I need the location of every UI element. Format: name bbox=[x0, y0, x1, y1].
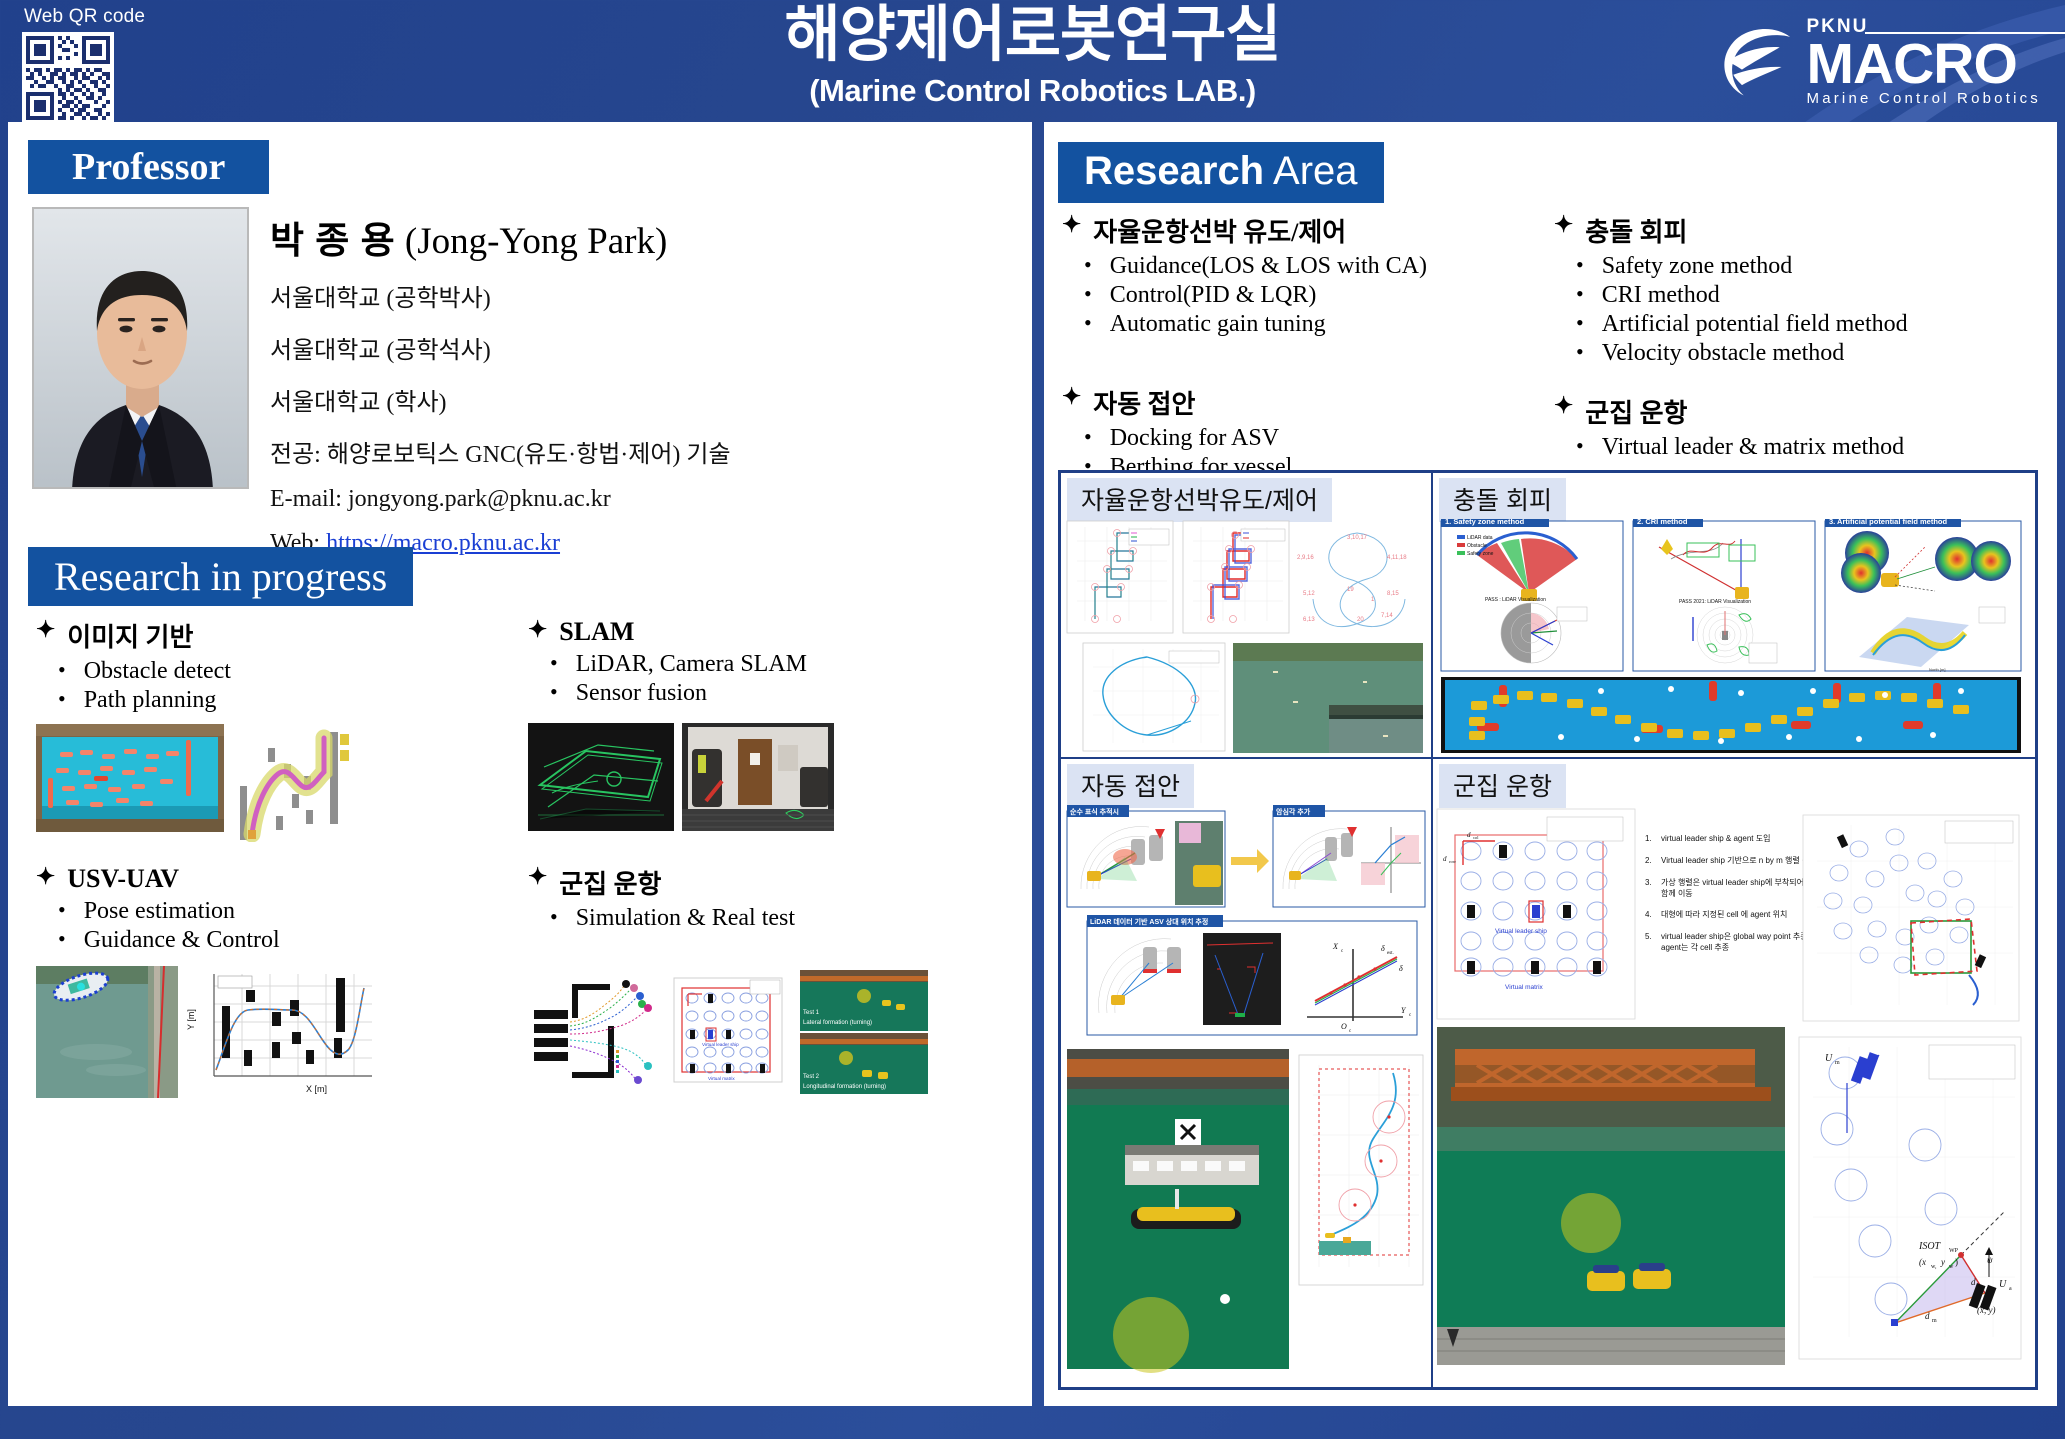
list-item: • LiDAR, Camera SLAM bbox=[528, 651, 1020, 678]
figure-indoor-rgbd-reconstruction bbox=[682, 723, 834, 831]
svg-text:20: 20 bbox=[1357, 617, 1364, 623]
svg-text:y: y bbox=[1940, 1257, 1945, 1267]
rip-group-title: ✦ 이미지 기반 bbox=[36, 617, 528, 654]
list-item: • Control(PID & LQR) bbox=[1062, 282, 1554, 309]
logo-macro-text: MACRO bbox=[1807, 38, 2042, 92]
ra-group-title: ✦ 군집 운항 bbox=[1554, 393, 2046, 430]
professor-name-english: (Jong-Yong Park) bbox=[405, 221, 667, 262]
svg-text:2,9,16: 2,9,16 bbox=[1297, 555, 1314, 561]
svg-text:m: m bbox=[1835, 1060, 1840, 1066]
svg-text:Test 1: Test 1 bbox=[803, 1010, 820, 1016]
svg-text:4,11,18: 4,11,18 bbox=[1387, 555, 1407, 561]
svg-text:Virtual leader ship 기반으로 n by: Virtual leader ship 기반으로 n by m 행렬 생성 bbox=[1661, 855, 1817, 865]
ra-cell-body: 순수 표식 추적시 bbox=[1061, 805, 1431, 1387]
rip-figures: X [m] Y [m] bbox=[36, 966, 528, 1098]
svg-text:Longitudinal formation (turnin: Longitudinal formation (turning) bbox=[803, 1084, 886, 1090]
svg-text:Virtual matrix: Virtual matrix bbox=[1505, 984, 1544, 991]
rip-group-image-based: ✦ 이미지 기반 • Obstacle detect • Path planni… bbox=[36, 617, 528, 842]
diamond-bullet-icon: ✦ bbox=[528, 617, 547, 642]
rip-group-slam: ✦ SLAM • LiDAR, Camera SLAM • Sensor fus… bbox=[528, 617, 1020, 842]
research-area-bullets: ✦ 자율운항선박 유도/제어 • Guidance(LOS & LOS with… bbox=[1062, 212, 2047, 507]
professor-degree-ms: 서울대학교 (공학석사) bbox=[270, 330, 1010, 365]
research-area-banner-light: Area bbox=[1264, 149, 1357, 193]
dot-bullet-icon: • bbox=[58, 658, 66, 685]
list-item: • Guidance(LOS & LOS with CA) bbox=[1062, 253, 1554, 280]
dot-bullet-icon: • bbox=[58, 898, 66, 925]
svg-text:U: U bbox=[1999, 1279, 2007, 1290]
ra-group-guidance-control: ✦ 자율운항선박 유도/제어 • Guidance(LOS & LOS with… bbox=[1062, 212, 1554, 338]
svg-text:2. CRI method: 2. CRI method bbox=[1637, 519, 1688, 526]
dot-bullet-icon: • bbox=[550, 905, 558, 932]
diamond-bullet-icon: ✦ bbox=[528, 864, 547, 889]
ra-group-title: ✦ 충돌 회피 bbox=[1554, 212, 2046, 249]
svg-text:col: col bbox=[1473, 835, 1479, 840]
professor-info: 박 종 용 (Jong-Yong Park) 서울대학교 (공학박사) 서울대학… bbox=[270, 210, 1010, 574]
professor-email: E-mail: jongyong.park@pknu.ac.kr bbox=[270, 486, 1010, 513]
svg-text:m: m bbox=[1932, 1318, 1937, 1324]
ra-cell-body: d col d row Virtual leader ship Virtual … bbox=[1433, 805, 2035, 1387]
svg-text:1.: 1. bbox=[1645, 834, 1652, 843]
list-item: • CRI method bbox=[1554, 282, 2046, 309]
figure-path-planning-map bbox=[232, 724, 360, 842]
svg-text:7,14: 7,14 bbox=[1381, 613, 1393, 619]
logo-tagline: Marine Control Robotics bbox=[1807, 90, 2042, 107]
professor-specialty: 전공: 해양로보틱스 GNC(유도·항법·제어) 기술 bbox=[270, 434, 1010, 469]
professor-banner: Professor bbox=[28, 140, 269, 194]
rip-group-title: ✦ SLAM bbox=[528, 617, 1020, 647]
ra-cell-collision-avoidance: 충돌 회피 1. Safety zone method bbox=[1432, 472, 2036, 758]
research-area-column-right: ✦ 충돌 회피 • Safety zone method • CRI metho… bbox=[1554, 212, 2046, 507]
rip-title-text: 군집 운항 bbox=[559, 864, 661, 901]
dot-bullet-icon: • bbox=[550, 651, 558, 678]
diamond-bullet-icon: ✦ bbox=[1062, 212, 1081, 237]
svg-text:ISOT: ISOT bbox=[1918, 1241, 1942, 1252]
rip-figures bbox=[36, 724, 528, 842]
svg-text:virtual leader ship & agent 도입: virtual leader ship & agent 도입 bbox=[1661, 834, 1770, 843]
ship-wave-logo-icon bbox=[1711, 18, 1797, 104]
ra-group-collision-avoidance: ✦ 충돌 회피 • Safety zone method • CRI metho… bbox=[1554, 212, 2046, 367]
svg-text:row: row bbox=[1449, 859, 1457, 864]
research-in-progress-banner: Research in progress bbox=[28, 547, 413, 606]
rip-group-swarm: ✦ 군집 운항 • Simulation & Real test bbox=[528, 864, 1020, 1098]
svg-text:LiDAR data: LiDAR data bbox=[1467, 535, 1493, 541]
dot-bullet-icon: • bbox=[1576, 311, 1584, 338]
svg-text:North [m]: North [m] bbox=[1929, 667, 1945, 672]
svg-text:8,15: 8,15 bbox=[1387, 591, 1399, 597]
rip-figures bbox=[528, 723, 1020, 831]
svg-text:1. Safety zone method: 1. Safety zone method bbox=[1445, 519, 1525, 526]
ra-group-swarm: ✦ 군집 운항 • Virtual leader & matrix method bbox=[1554, 393, 2046, 461]
ra-cell-body: 1. Safety zone method LiDAR data Obstacl… bbox=[1433, 519, 2035, 757]
rip-figures: Virtual leader ship Virtual matrix bbox=[528, 970, 1020, 1094]
svg-text:ψ: ψ bbox=[1987, 1255, 1993, 1265]
ra-cell-label: 자동 접안 bbox=[1067, 764, 1194, 808]
research-area-figure-grid: 자율운항선박유도/제어 bbox=[1058, 470, 2038, 1390]
dot-bullet-icon: • bbox=[1084, 425, 1092, 452]
rip-title-text: 이미지 기반 bbox=[67, 617, 193, 654]
svg-text:2.: 2. bbox=[1645, 856, 1652, 865]
svg-text:Safety zone: Safety zone bbox=[1467, 551, 1494, 557]
research-area-banner: Research Area bbox=[1058, 142, 1384, 203]
dot-bullet-icon: • bbox=[58, 687, 66, 714]
research-area-banner-bold: Research bbox=[1084, 149, 1264, 193]
diamond-bullet-icon: ✦ bbox=[1554, 393, 1573, 418]
svg-text:Virtual leader ship: Virtual leader ship bbox=[702, 1042, 739, 1047]
svg-text:가상 행렬은 virtual leader ship에 부착: 가상 행렬은 virtual leader ship에 부착되어 bbox=[1661, 877, 1804, 887]
svg-text:w,: w, bbox=[1931, 1264, 1937, 1270]
list-item: • Pose estimation bbox=[36, 898, 528, 925]
svg-text:Test 2: Test 2 bbox=[803, 1074, 820, 1080]
svg-text:WP: WP bbox=[1949, 1248, 1959, 1254]
svg-text:d: d bbox=[1443, 855, 1447, 863]
rip-group-usv-uav: ✦ USV-UAV • Pose estimation • Guidance &… bbox=[36, 864, 528, 1098]
figure-multi-agent-path-simulation bbox=[528, 970, 656, 1094]
svg-text:d: d bbox=[1467, 831, 1471, 839]
svg-text:5.: 5. bbox=[1645, 932, 1652, 941]
diamond-bullet-icon: ✦ bbox=[1062, 384, 1081, 409]
ra-cell-guidance-control: 자율운항선박유도/제어 bbox=[1060, 472, 1432, 758]
left-panel: Professor bbox=[8, 122, 1032, 1406]
list-item: • Obstacle detect bbox=[36, 658, 528, 685]
diamond-bullet-icon: ✦ bbox=[36, 864, 55, 889]
diamond-bullet-icon: ✦ bbox=[36, 617, 55, 642]
svg-text:대형에 따라 지정된 cell 에 agent 위치: 대형에 따라 지정된 cell 에 agent 위치 bbox=[1661, 909, 1787, 919]
list-item: • Automatic gain tuning bbox=[1062, 311, 1554, 338]
svg-text:O: O bbox=[1341, 1022, 1347, 1031]
ra-cell-label: 군집 운항 bbox=[1439, 764, 1566, 808]
dot-bullet-icon: • bbox=[58, 927, 66, 954]
figure-xy-trajectory-obstacle-plot: X [m] Y [m] bbox=[186, 966, 382, 1098]
svg-text:순수 표식 추적시: 순수 표식 추적시 bbox=[1070, 807, 1119, 816]
svg-text:PASS : LiDAR Visualization: PASS : LiDAR Visualization bbox=[1485, 597, 1546, 603]
svg-text:a: a bbox=[1978, 1284, 1981, 1290]
ra-cell-swarm-navigation: 군집 운항 bbox=[1432, 758, 2036, 1388]
dot-bullet-icon: • bbox=[550, 680, 558, 707]
svg-text:): ) bbox=[1955, 1257, 1958, 1267]
ra-cell-body: 3,10,17 2,9,16 4,11,18 5,12 19 8,15 1 6,… bbox=[1061, 519, 1431, 757]
svg-text:Obstacle: Obstacle bbox=[1467, 543, 1487, 549]
figure-lidar-pointcloud-green bbox=[528, 723, 674, 831]
dot-bullet-icon: • bbox=[1576, 340, 1584, 367]
dot-bullet-icon: • bbox=[1084, 282, 1092, 309]
svg-text:19: 19 bbox=[1347, 587, 1354, 593]
professor-degree-phd: 서울대학교 (공학박사) bbox=[270, 278, 1010, 313]
ra-group-title: ✦ 자율운항선박 유도/제어 bbox=[1062, 212, 1554, 249]
diamond-bullet-icon: ✦ bbox=[1554, 212, 1573, 237]
svg-text:d: d bbox=[1925, 1311, 1930, 1321]
svg-text:X [m]: X [m] bbox=[306, 1084, 327, 1094]
dot-bullet-icon: • bbox=[1576, 282, 1584, 309]
professor-degree-bs: 서울대학교 (학사) bbox=[270, 382, 1010, 417]
logo-pknu-text: PKNU bbox=[1807, 16, 2042, 38]
rip-title-text: USV-UAV bbox=[67, 864, 179, 894]
svg-text:4.: 4. bbox=[1645, 910, 1652, 919]
dot-bullet-icon: • bbox=[1576, 253, 1584, 280]
svg-text:(x, y): (x, y) bbox=[1977, 1305, 1995, 1315]
lab-logo: PKNU MACRO Marine Control Robotics bbox=[1711, 16, 2042, 107]
rip-title-text: SLAM bbox=[559, 617, 634, 647]
svg-text:PASS 2021: LiDAR Visualization: PASS 2021: LiDAR Visualization bbox=[1679, 599, 1751, 605]
research-in-progress-grid: ✦ 이미지 기반 • Obstacle detect • Path planni… bbox=[36, 617, 1021, 1098]
ra-group-title: ✦ 자동 접안 bbox=[1062, 384, 1554, 421]
figure-virtual-matrix-formation-plot: Virtual leader ship Virtual matrix bbox=[664, 970, 792, 1094]
svg-text:agent는 각 cell 추종: agent는 각 cell 추종 bbox=[1661, 942, 1729, 952]
rip-group-title: ✦ USV-UAV bbox=[36, 864, 528, 894]
svg-text:3. Artificial potential field: 3. Artificial potential field method bbox=[1829, 519, 1947, 526]
ra-cell-label: 충돌 회피 bbox=[1439, 478, 1566, 522]
svg-text:U: U bbox=[1825, 1053, 1833, 1064]
svg-text:Virtual leader ship: Virtual leader ship bbox=[1495, 928, 1547, 935]
list-item: • Simulation & Real test bbox=[528, 905, 1020, 932]
ra-cell-label: 자율운항선박유도/제어 bbox=[1067, 478, 1332, 522]
rip-group-title: ✦ 군집 운항 bbox=[528, 864, 1020, 901]
professor-name-korean: 박 종 용 bbox=[270, 221, 396, 262]
svg-text:3,10,17: 3,10,17 bbox=[1347, 535, 1368, 541]
figure-basin-formation-tests: Test 1 Lateral formation (turning) Test … bbox=[800, 970, 928, 1094]
svg-text:Y [m]: Y [m] bbox=[186, 1009, 196, 1030]
svg-text:virtual leader ship은 global wa: virtual leader ship은 global way point 추종 bbox=[1661, 932, 1808, 941]
ra-group-auto-berthing: ✦ 자동 접안 • Docking for ASV • Berthing for… bbox=[1062, 384, 1554, 481]
list-item: • Sensor fusion bbox=[528, 680, 1020, 707]
list-item: • Path planning bbox=[36, 687, 528, 714]
svg-text:d: d bbox=[1971, 1277, 1976, 1287]
list-item: • Artificial potential field method bbox=[1554, 311, 2046, 338]
svg-text:6,13: 6,13 bbox=[1303, 617, 1315, 623]
svg-text:(x: (x bbox=[1919, 1257, 1926, 1267]
svg-text:함께 이동: 함께 이동 bbox=[1661, 888, 1693, 898]
ra-cell-auto-berthing: 자동 접안 순수 표식 추적시 bbox=[1060, 758, 1432, 1388]
right-panel: Research Area ✦ 자율운항선박 유도/제어 • Guidance(… bbox=[1044, 122, 2057, 1406]
svg-text:w: w bbox=[1949, 1264, 1954, 1270]
svg-text:a: a bbox=[2009, 1286, 2012, 1292]
svg-text:Lateral formation (turning): Lateral formation (turning) bbox=[803, 1020, 872, 1026]
research-area-column-left: ✦ 자율운항선박 유도/제어 • Guidance(LOS & LOS with… bbox=[1062, 212, 1554, 507]
svg-text:LiDAR 데이터 기반 ASV 상대 위치 추정: LiDAR 데이터 기반 ASV 상대 위치 추정 bbox=[1090, 917, 1208, 926]
poster-header: Web QR code bbox=[0, 0, 2065, 122]
list-item: • Virtual leader & matrix method bbox=[1554, 434, 2046, 461]
avatar bbox=[32, 207, 249, 489]
figure-aerial-pool-obstacle-detection bbox=[36, 724, 224, 832]
svg-text:암심각 추가: 암심각 추가 bbox=[1276, 807, 1311, 816]
svg-text:δ: δ bbox=[1381, 944, 1385, 953]
list-item: • Safety zone method bbox=[1554, 253, 2046, 280]
svg-text:Virtual matrix: Virtual matrix bbox=[708, 1076, 735, 1081]
list-item: • Docking for ASV bbox=[1062, 425, 1554, 452]
svg-text:est.: est. bbox=[1387, 951, 1394, 956]
svg-text:δ: δ bbox=[1399, 964, 1403, 973]
dot-bullet-icon: • bbox=[1084, 253, 1092, 280]
professor-name: 박 종 용 (Jong-Yong Park) bbox=[270, 210, 1010, 264]
list-item: • Guidance & Control bbox=[36, 927, 528, 954]
dot-bullet-icon: • bbox=[1084, 311, 1092, 338]
svg-text:3.: 3. bbox=[1645, 878, 1652, 887]
figure-usv-aerial-pose-estimation bbox=[36, 966, 178, 1098]
dot-bullet-icon: • bbox=[1576, 434, 1584, 461]
list-item: • Velocity obstacle method bbox=[1554, 340, 2046, 367]
svg-text:5,12: 5,12 bbox=[1303, 591, 1315, 597]
